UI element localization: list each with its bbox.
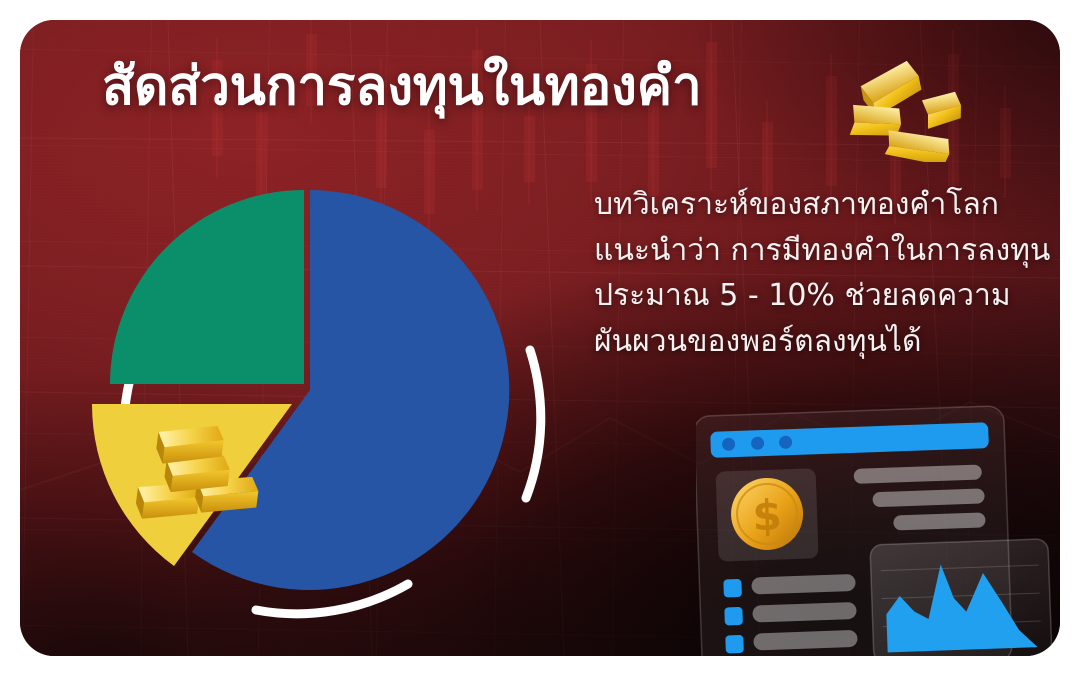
svg-text:$: $ — [752, 490, 783, 540]
list-item — [753, 630, 858, 651]
list-item — [751, 574, 856, 595]
body-paragraph: บทวิเคราะห์ของสภาทองคำโลก แนะนำว่า การมี… — [594, 182, 1060, 364]
body-line-2: แนะนำว่า การมีทองคำในการลงทุน — [594, 228, 1060, 274]
infographic-canvas: สัดส่วนการลงทุนในทองคำ — [0, 0, 1080, 676]
body-line-3: ประมาณ 5 - 10% ช่วยลดความ — [594, 273, 1060, 319]
body-line-1: บทวิเคราะห์ของสภาทองคำโลก — [594, 182, 1060, 228]
dashboard-mockup: $ — [696, 398, 1060, 656]
list-item — [752, 602, 857, 623]
body-line-4: ผันผวนของพอร์ตลงทุนได้ — [594, 319, 1060, 365]
checkbox-icon — [725, 635, 744, 654]
pie-chart — [60, 150, 580, 650]
area-chart-card — [870, 539, 1052, 656]
pie-slice-green — [110, 190, 304, 384]
gold-bars-icon — [848, 58, 966, 162]
text-bar — [893, 512, 985, 530]
page-title: สัดส่วนการลงทุนในทองคำ — [102, 56, 882, 119]
infographic-card: สัดส่วนการลงทุนในทองคำ — [20, 20, 1060, 656]
checkbox-icon — [724, 607, 743, 626]
checkbox-icon — [723, 579, 742, 598]
